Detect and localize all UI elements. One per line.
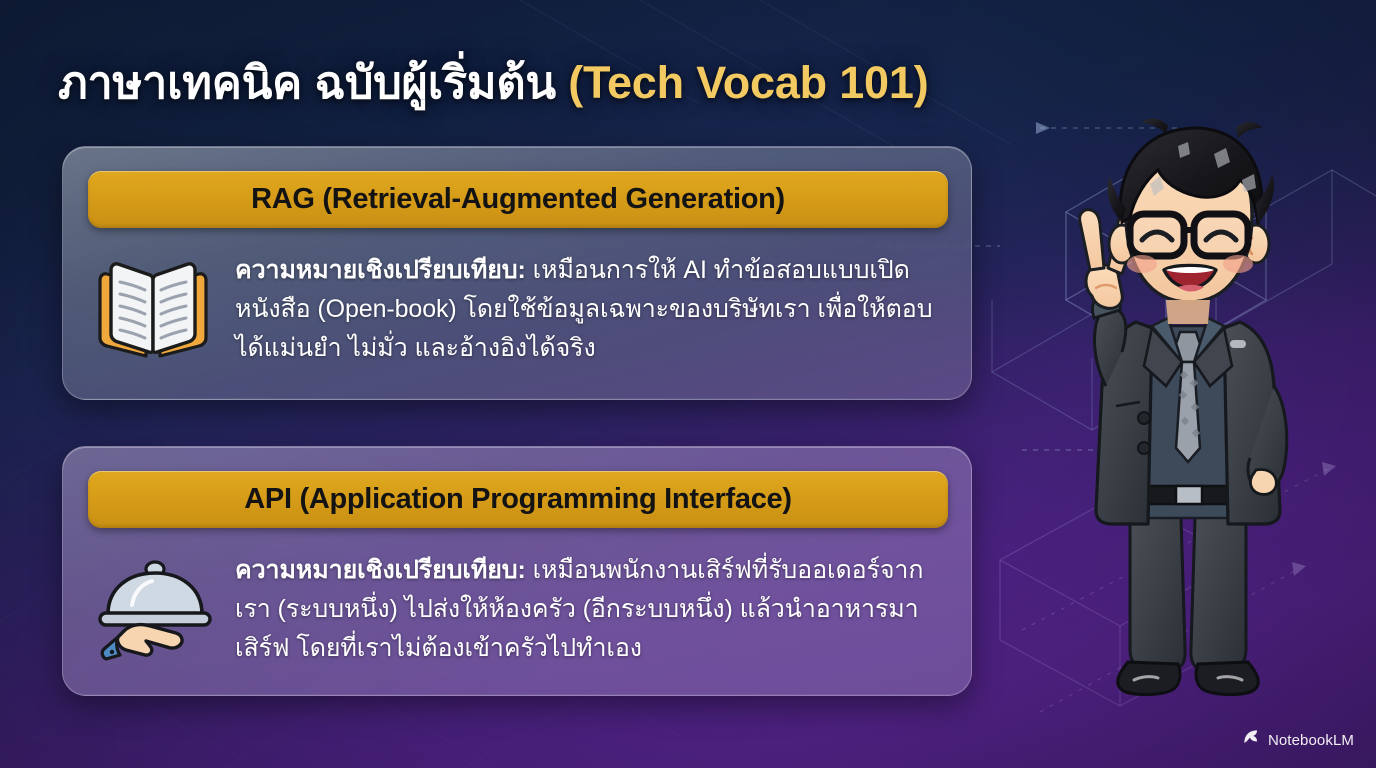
- card-api-body: ความหมายเชิงเปรียบเทียบ: เหมือนพนักงานเส…: [93, 545, 947, 668]
- card-api-header-label: API (Application Programming Interface): [244, 483, 791, 516]
- card-api: API (Application Programming Interface): [62, 446, 972, 696]
- card-api-header: API (Application Programming Interface): [88, 471, 948, 528]
- cartoon-businessman-illustration: [1018, 118, 1358, 738]
- notebooklm-watermark-label: NotebookLM: [1268, 732, 1354, 749]
- notebooklm-logo-icon: [1242, 728, 1261, 752]
- serving-dish-icon: [93, 555, 213, 665]
- slide-canvas: ภาษาเทคนิค ฉบับผู้เริ่มต้น (Tech Vocab 1…: [0, 0, 1376, 768]
- notebooklm-watermark: NotebookLM: [1242, 728, 1354, 752]
- card-rag-header-label: RAG (Retrieval-Augmented Generation): [251, 183, 785, 216]
- card-rag-text: ความหมายเชิงเปรียบเทียบ: เหมือนการให้ AI…: [235, 245, 947, 368]
- page-title-thai: ภาษาเทคนิค ฉบับผู้เริ่มต้น: [58, 57, 556, 108]
- page-title: ภาษาเทคนิค ฉบับผู้เริ่มต้น (Tech Vocab 1…: [58, 46, 1098, 118]
- page-title-latin: (Tech Vocab 101): [568, 57, 928, 108]
- card-rag-text-label: ความหมายเชิงเปรียบเทียบ:: [235, 256, 526, 284]
- card-rag-header: RAG (Retrieval-Augmented Generation): [88, 171, 948, 228]
- open-book-icon: [93, 255, 213, 365]
- card-rag: RAG (Retrieval-Augmented Generation): [62, 146, 972, 400]
- card-rag-body: ความหมายเชิงเปรียบเทียบ: เหมือนการให้ AI…: [93, 245, 947, 368]
- card-api-text: ความหมายเชิงเปรียบเทียบ: เหมือนพนักงานเส…: [235, 545, 947, 668]
- card-api-text-label: ความหมายเชิงเปรียบเทียบ:: [235, 556, 526, 584]
